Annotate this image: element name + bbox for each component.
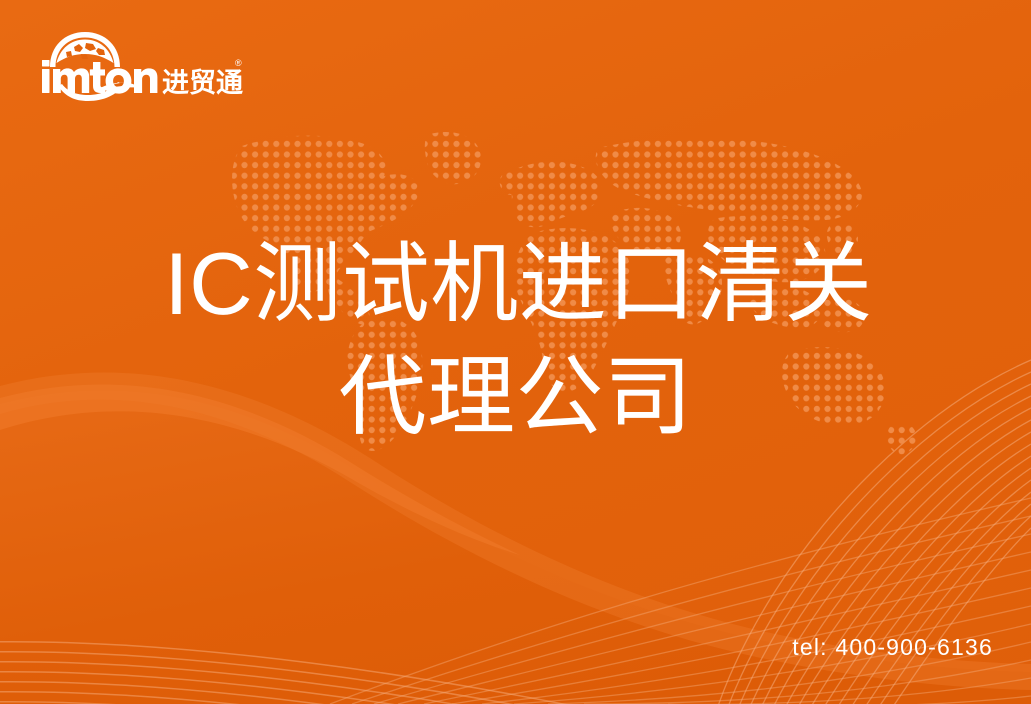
logo-wordmark-chinese: 进贸通 [162, 68, 243, 99]
registered-mark: ® [235, 58, 242, 68]
promo-banner: 进贸通 ® IC测试机进口清关 代理公司 tel: 400-900-6136 [0, 0, 1031, 704]
brand-logo[interactable]: 进贸通 ® [38, 30, 248, 102]
headline: IC测试机进口清关 代理公司 [0, 228, 1031, 453]
globe-arc-icon [50, 32, 120, 67]
headline-line-1: IC测试机进口清关 [0, 228, 1031, 341]
headline-line-2: 代理公司 [0, 341, 1031, 454]
logo-wordmark-latin [42, 60, 157, 94]
contact-phone: tel: 400-900-6136 [792, 634, 993, 661]
